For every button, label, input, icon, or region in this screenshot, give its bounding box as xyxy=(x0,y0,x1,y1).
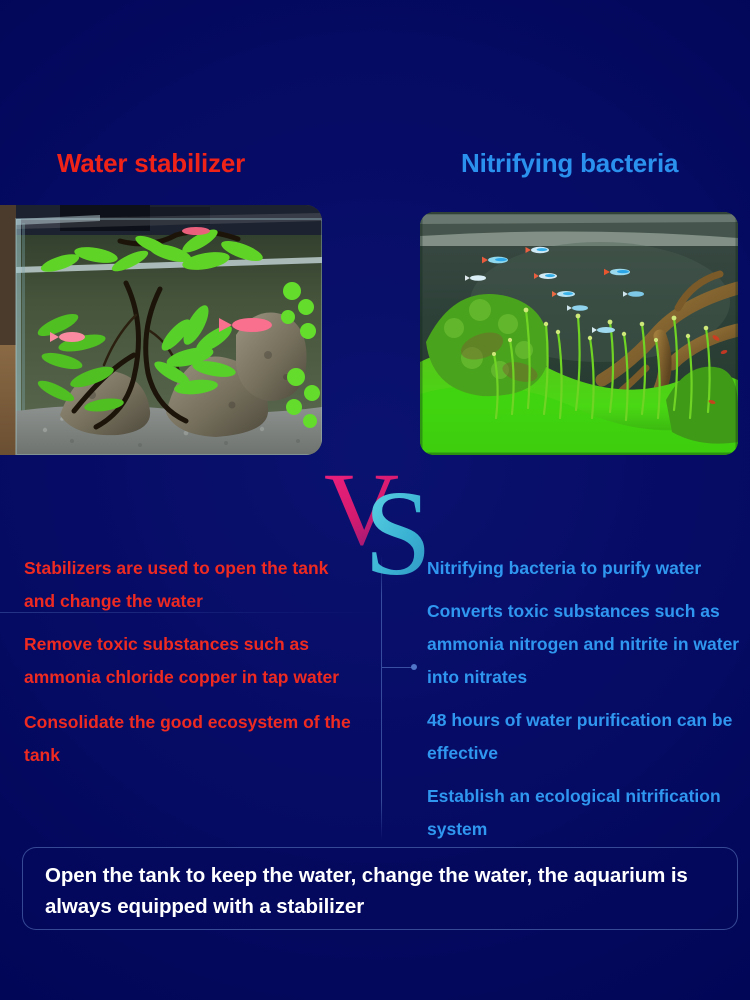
photo-water-stabilizer-tank xyxy=(0,205,322,455)
bottom-summary-banner: Open the tank to keep the water, change … xyxy=(22,847,738,930)
bullet-item: Stabilizers are used to open the tank an… xyxy=(24,552,362,618)
divider-vertical-line xyxy=(381,555,382,840)
photo-nitrifying-bacteria-tank xyxy=(420,212,738,455)
svg-text:V: V xyxy=(324,452,399,567)
comparison-infographic: Water stabilizer Nitrifying bacteria xyxy=(0,0,750,1000)
heading-nitrifying-bacteria: Nitrifying bacteria xyxy=(461,148,678,179)
svg-text:S: S xyxy=(364,466,432,582)
aquarium-photo-icon xyxy=(0,205,322,455)
bullet-list-water-stabilizer: Stabilizers are used to open the tank an… xyxy=(24,552,362,782)
aquarium-photo-icon xyxy=(420,212,738,455)
bullet-item: Consolidate the good ecosystem of the ta… xyxy=(24,706,362,772)
bullet-item: Establish an ecological nitrification sy… xyxy=(427,780,745,846)
bullet-item: 48 hours of water purification can be ef… xyxy=(427,704,745,770)
heading-water-stabilizer: Water stabilizer xyxy=(57,148,245,179)
bullet-list-nitrifying-bacteria: Nitrifying bacteria to purify water Conv… xyxy=(427,552,745,856)
bottom-summary-text: Open the tank to keep the water, change … xyxy=(45,860,715,922)
bullet-item: Converts toxic substances such as ammoni… xyxy=(427,595,745,694)
divider-dot xyxy=(411,664,417,670)
bullet-item: Remove toxic substances such as ammonia … xyxy=(24,628,362,694)
bullet-item: Nitrifying bacteria to purify water xyxy=(427,552,745,585)
